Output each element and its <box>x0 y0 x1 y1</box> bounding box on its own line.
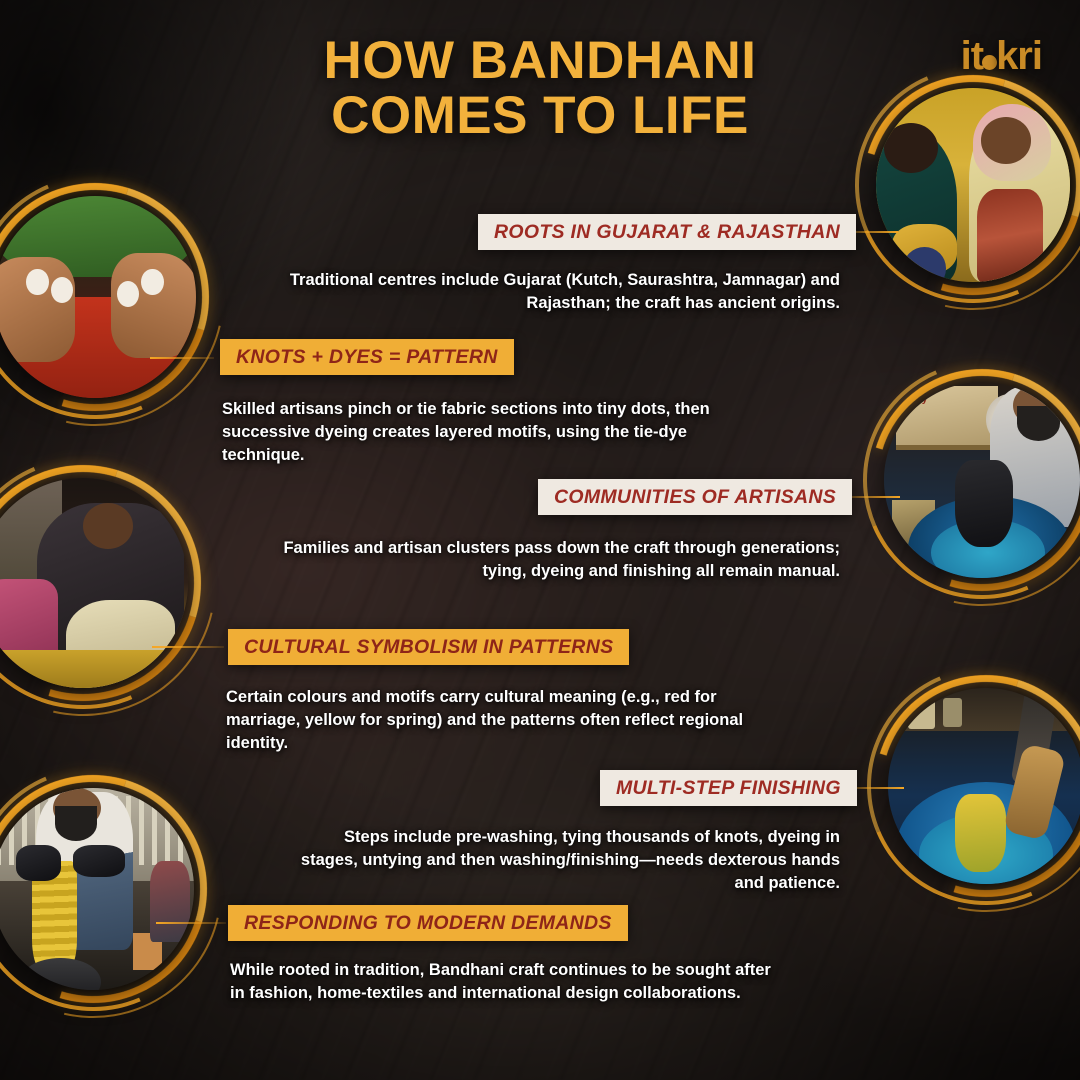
section-label-2: KNOTS + DYES = PATTERN <box>220 339 514 375</box>
photo-indigo-vat-with-pole <box>888 688 1080 884</box>
page-title-line-1: HOW BANDHANI <box>324 31 757 90</box>
section-body-1: Traditional centres include Gujarat (Kut… <box>255 269 840 315</box>
scene-art: y . y <box>884 382 1080 578</box>
section-label-1: ROOTS IN GUJARAT & RAJASTHAN <box>478 214 856 250</box>
photo-woman-seated-working-cloth <box>0 478 188 688</box>
photo-disc: y . y <box>884 382 1080 578</box>
connector-line-4 <box>152 646 224 648</box>
section-label-3: COMMUNITIES OF ARTISANS <box>538 479 852 515</box>
connector-line-2 <box>150 357 214 359</box>
photo-women-tying-bandhani-knots <box>876 88 1070 282</box>
scene-art <box>0 788 194 990</box>
photo-hands-tying-red-fabric <box>0 196 196 398</box>
photo-disc <box>0 196 196 398</box>
photo-disc <box>0 788 194 990</box>
section-body-5: Steps include pre-washing, tying thousan… <box>300 826 840 894</box>
section-label-5: MULTI-STEP FINISHING <box>600 770 857 806</box>
scene-art <box>876 88 1070 282</box>
infographic-canvas: HOW BANDHANI COMES TO LIFE itkri <box>0 0 1080 1080</box>
photo-man-lifting-yellow-skeins <box>0 788 194 990</box>
section-body-2: Skilled artisans pinch or tie fabric sec… <box>222 398 762 466</box>
section-label-6: RESPONDING TO MODERN DEMANDS <box>228 905 628 941</box>
photo-artisan-dyeing-in-blue-tub: y . y <box>884 382 1080 578</box>
section-body-3: Families and artisan clusters pass down … <box>250 537 840 583</box>
section-label-4: CULTURAL SYMBOLISM IN PATTERNS <box>228 629 629 665</box>
photo-disc <box>888 688 1080 884</box>
photo-disc <box>876 88 1070 282</box>
photo-disc <box>0 478 188 688</box>
scene-art <box>0 478 188 688</box>
page-title-line-2: COMES TO LIFE <box>150 89 930 144</box>
section-body-6: While rooted in tradition, Bandhani craf… <box>230 959 790 1005</box>
scene-art <box>888 688 1080 884</box>
section-body-4: Certain colours and motifs carry cultura… <box>226 686 766 754</box>
connector-line-6 <box>156 922 226 924</box>
scene-art <box>0 196 196 398</box>
